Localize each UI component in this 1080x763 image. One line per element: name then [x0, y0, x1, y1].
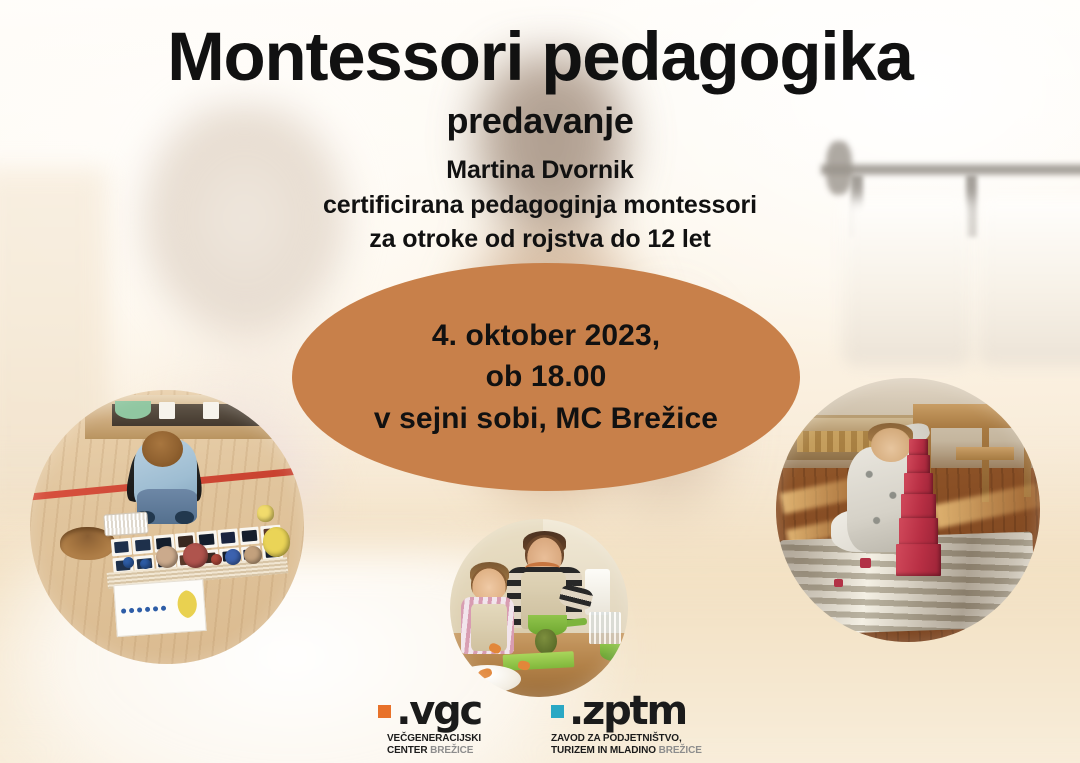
vgc-tagline-line1: VEČGENERACIJSKI	[387, 733, 481, 745]
logo-vgc: .vgc VEČGENERACIJSKI CENTER BREŽICE	[378, 691, 481, 757]
planet-card	[111, 538, 132, 557]
vgc-wordmark: .vgc	[378, 691, 481, 731]
photo-child-solar-system	[30, 390, 304, 664]
logo-zptm: .zptm ZAVOD ZA PODJETNIŠTVO, TURIZEM IN …	[551, 691, 702, 757]
pink-tower-cube	[860, 558, 871, 569]
zptm-tagline: ZAVOD ZA PODJETNIŠTVO, TURIZEM IN MLADIN…	[551, 733, 702, 757]
planet-dots	[121, 605, 172, 614]
planet-card	[239, 527, 260, 546]
pink-tower-cube	[834, 579, 842, 587]
cup	[159, 402, 175, 418]
vgc-tagline: VEČGENERACIJSKI CENTER BREŽICE	[387, 733, 481, 757]
scene-solar-system	[30, 390, 304, 664]
cup	[203, 402, 219, 418]
planet-card	[132, 536, 153, 555]
event-date: 4. oktober 2023,	[432, 316, 660, 356]
scene-pink-tower	[776, 378, 1040, 642]
child-head	[871, 428, 911, 462]
child-head	[142, 431, 183, 467]
speaker-credential: certificirana pedagoginja montessori	[323, 189, 757, 222]
square-dot-icon	[378, 705, 391, 718]
child-shoe	[175, 511, 194, 525]
glass-rack	[589, 612, 621, 644]
vgc-tagline-center: CENTER	[387, 745, 428, 756]
white-tray	[103, 512, 148, 537]
event-time: ob 18.00	[486, 357, 607, 397]
event-venue: v sejni sobi, MC Brežice	[374, 399, 718, 439]
zptm-tagline-main: TURIZEM IN MLADINO	[551, 745, 656, 756]
avocado	[535, 629, 556, 654]
pink-tower-cube	[901, 494, 935, 519]
table-leg	[982, 428, 989, 502]
speaker-name: Martina Dvornik	[446, 154, 633, 187]
speaker-block: Martina Dvornik certificirana pedagoginj…	[0, 154, 1080, 256]
scene-food-prep	[450, 519, 628, 697]
logo-bar: .vgc VEČGENERACIJSKI CENTER BREŽICE .zpt…	[0, 691, 1080, 757]
stool	[956, 447, 1014, 460]
poster-canvas: Montessori pedagogika predavanje Martina…	[0, 0, 1080, 763]
page-title: Montessori pedagogika	[0, 22, 1080, 92]
green-bowl	[115, 401, 151, 419]
zptm-logo-text: .zptm	[569, 691, 686, 731]
toddler-head	[471, 567, 507, 601]
vgc-tagline-line2: CENTER BREŽICE	[387, 745, 481, 757]
title-block: Montessori pedagogika predavanje Martina…	[0, 22, 1080, 256]
cutting-board	[503, 651, 575, 671]
pink-tower-cube	[909, 439, 927, 456]
photo-child-pink-tower	[776, 378, 1040, 642]
zptm-tagline-line2: TURIZEM IN MLADINO BREŽICE	[551, 745, 702, 757]
solar-system-chart	[113, 579, 207, 637]
apron-strap	[525, 562, 561, 574]
photo-children-food-prep	[450, 519, 628, 697]
sun-graphic	[173, 589, 198, 619]
vgc-logo-text: .vgc	[396, 691, 481, 731]
speaker-age-range: za otroke od rojstva do 12 let	[369, 223, 711, 256]
pink-tower-cube	[904, 473, 933, 495]
sun-model	[263, 527, 290, 557]
square-dot-icon	[551, 705, 564, 718]
pink-tower-cube	[896, 544, 941, 576]
planet-model	[156, 546, 178, 568]
vgc-tagline-city: BREŽICE	[430, 745, 473, 756]
zptm-tagline-line1: ZAVOD ZA PODJETNIŠTVO,	[551, 733, 702, 745]
planet-model	[140, 559, 151, 570]
zptm-tagline-city: BREŽICE	[659, 745, 702, 756]
event-details-ellipse: 4. oktober 2023, ob 18.00 v sejni sobi, …	[292, 263, 800, 491]
page-subtitle: predavanje	[0, 100, 1080, 142]
planet-card	[218, 529, 239, 548]
sun-model	[257, 505, 273, 521]
planet-model	[244, 546, 262, 564]
pink-tower-cube	[907, 455, 931, 475]
zptm-wordmark: .zptm	[551, 691, 686, 731]
table-top	[913, 404, 1034, 428]
pink-tower-cube	[899, 518, 939, 546]
